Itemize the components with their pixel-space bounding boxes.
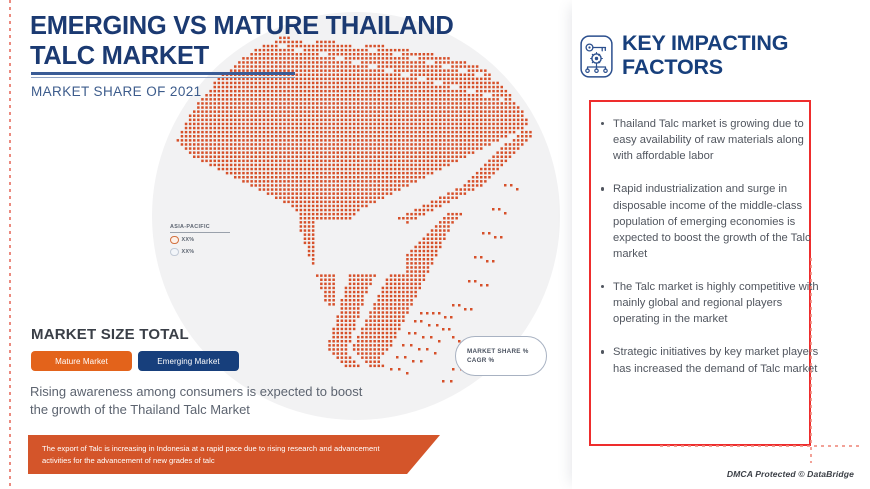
legend-region-label: ASIA-PACIFIC bbox=[170, 224, 230, 233]
export-banner: The export of Talc is increasing in Indo… bbox=[28, 435, 440, 474]
market-legend-chips: Mature Market Emerging Market bbox=[31, 351, 239, 371]
page-title: EMERGING VS MATURE THAILAND TALC MARKET bbox=[30, 12, 460, 71]
market-size-description: Rising awareness among consumers is expe… bbox=[30, 383, 370, 420]
footer-credit: DMCA Protected © DataBridge bbox=[727, 469, 854, 479]
key-factors-header: KEY IMPACTING FACTORS bbox=[580, 32, 870, 79]
key-network-icon bbox=[580, 35, 613, 78]
key-factors-list: Thailand Talc market is growing due to e… bbox=[600, 116, 820, 394]
legend-row-mature: XX% bbox=[170, 236, 250, 245]
title-divider bbox=[31, 72, 295, 78]
market-size-heading: MARKET SIZE TOTAL bbox=[31, 326, 189, 343]
market-share-callout: MARKET SHARE % CAGR % bbox=[455, 336, 547, 376]
list-item: The Talc market is highly competitive wi… bbox=[600, 279, 820, 327]
chip-emerging-market[interactable]: Emerging Market bbox=[138, 351, 239, 371]
legend-value-emerging: XX% bbox=[182, 249, 195, 255]
callout-cagr: CAGR % bbox=[467, 357, 546, 364]
map-legend: ASIA-PACIFIC XX% XX% bbox=[170, 224, 250, 256]
left-panel: ASIA-PACIFIC XX% XX% EMERGING VS MATURE … bbox=[0, 0, 572, 489]
callout-market-share: MARKET SHARE % bbox=[467, 348, 546, 355]
list-item: Rapid industrialization and surge in dis… bbox=[600, 181, 820, 262]
chip-mature-market[interactable]: Mature Market bbox=[31, 351, 132, 371]
page-subtitle: MARKET SHARE OF 2021 bbox=[31, 84, 202, 99]
export-banner-text: The export of Talc is increasing in Indo… bbox=[28, 443, 440, 467]
list-item: Thailand Talc market is growing due to e… bbox=[600, 116, 820, 164]
list-item: Strategic initiatives by key market play… bbox=[600, 344, 820, 376]
key-factors-title: KEY IMPACTING FACTORS bbox=[622, 32, 870, 79]
legend-value-mature: XX% bbox=[182, 237, 195, 243]
infographic-root: ASIA-PACIFIC XX% XX% EMERGING VS MATURE … bbox=[0, 0, 870, 489]
mature-marker-icon bbox=[170, 236, 179, 245]
emerging-marker-icon bbox=[170, 248, 179, 257]
legend-row-emerging: XX% bbox=[170, 248, 250, 257]
bottom-dotted-rule bbox=[660, 445, 860, 447]
right-panel: KEY IMPACTING FACTORS Thailand Talc mark… bbox=[572, 0, 870, 489]
right-dotted-rule bbox=[810, 258, 812, 463]
